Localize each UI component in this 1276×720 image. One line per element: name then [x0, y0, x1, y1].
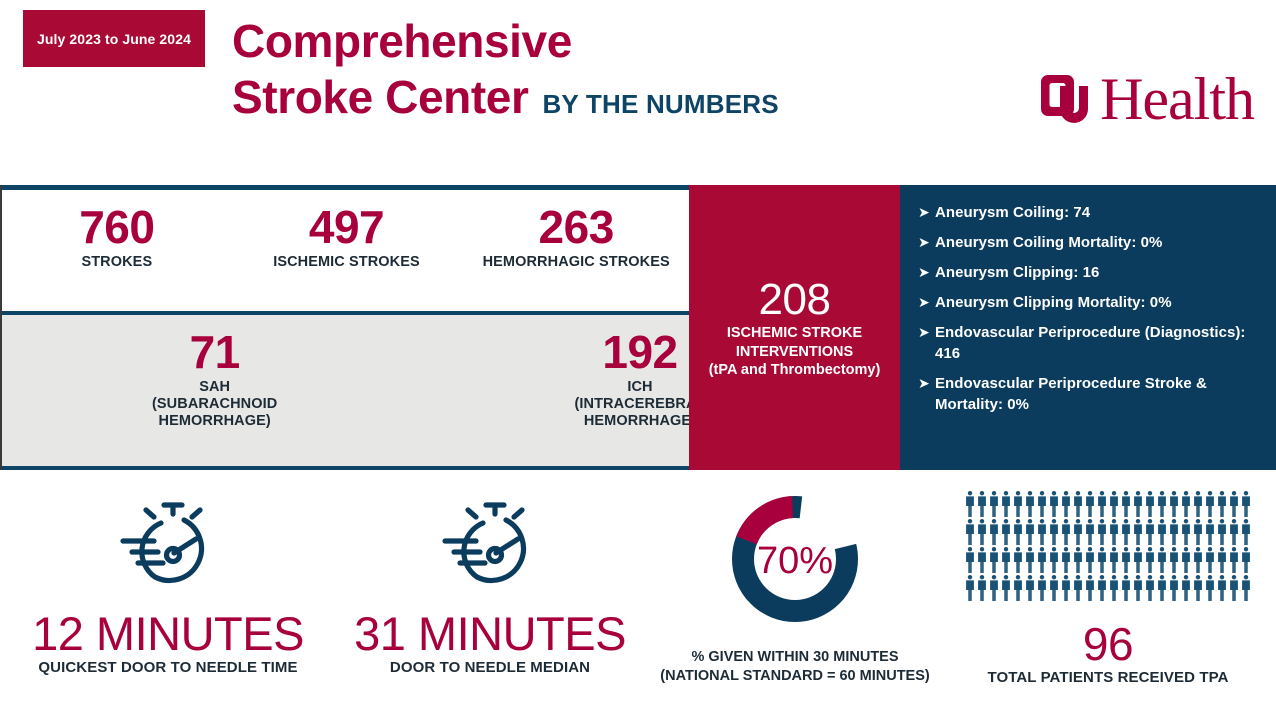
person-icon [1144, 518, 1156, 546]
list-item: ➤ Endovascular Periprocedure Stroke & Mo… [918, 373, 1264, 415]
stopwatch-icon [114, 492, 222, 598]
person-icon [1192, 518, 1204, 546]
stat-value: 497 [309, 204, 384, 250]
person-icon [1132, 490, 1144, 518]
person-icon [1084, 490, 1096, 518]
person-icon [1216, 546, 1228, 574]
person-icon [1216, 490, 1228, 518]
person-icon [1228, 546, 1240, 574]
list-item: ➤ Aneurysm Coiling Mortality: 0% [918, 232, 1264, 253]
person-icon [1144, 490, 1156, 518]
person-icon [1216, 518, 1228, 546]
person-icon [1132, 518, 1144, 546]
person-icon [1036, 490, 1048, 518]
person-icon [1156, 518, 1168, 546]
metric-value: 96 [1083, 620, 1133, 668]
page-title-line2: Stroke Center [232, 68, 528, 126]
person-icon [1012, 518, 1024, 546]
person-icon [1096, 574, 1108, 602]
person-icon [1000, 574, 1012, 602]
date-range-text: July 2023 to June 2024 [37, 31, 191, 47]
person-icon [1144, 546, 1156, 574]
intervention-label-line1: ISCHEMIC STROKE [727, 324, 862, 342]
stat-label: ICH (INTRACEREBRAL HEMORRHAGE) [574, 379, 705, 430]
person-icon [988, 490, 1000, 518]
person-icon [1060, 490, 1072, 518]
stat-sah: 71 SAH (SUBARACHNOID HEMORRHAGE) [2, 315, 427, 466]
person-icon [1144, 574, 1156, 602]
person-icon [1240, 490, 1252, 518]
person-icon [1228, 518, 1240, 546]
metric-percent-within-30-minutes: 70% % GIVEN WITHIN 30 MINUTES (NATIONAL … [645, 488, 945, 686]
performance-band: 12 MINUTES QUICKEST DOOR TO NEEDLE TIME [0, 470, 1276, 720]
page-title-line2-row: Stroke Center BY THE NUMBERS [232, 68, 779, 133]
page-header: July 2023 to June 2024 Comprehensive Str… [0, 0, 1276, 185]
person-icon [1048, 574, 1060, 602]
arrow-bullet-icon: ➤ [918, 322, 935, 342]
person-icon [1072, 490, 1084, 518]
person-icon [1024, 546, 1036, 574]
stat-label: ISCHEMIC STROKES [273, 254, 420, 271]
list-item-label: Aneurysm Clipping: 16 [935, 262, 1099, 283]
person-icon [964, 574, 976, 602]
donut-chart: 70% [724, 488, 866, 630]
person-icon [1168, 490, 1180, 518]
metric-caption: DOOR TO NEEDLE MEDIAN [390, 658, 590, 677]
page-subtitle: BY THE NUMBERS [542, 75, 778, 133]
stat-label: HEMORRHAGIC STROKES [483, 254, 670, 271]
person-icon [1060, 518, 1072, 546]
person-icon [1084, 546, 1096, 574]
list-item-label: Aneurysm Coiling: 74 [935, 202, 1090, 223]
person-icon [1156, 490, 1168, 518]
person-icon [1012, 574, 1024, 602]
person-icon [1072, 546, 1084, 574]
person-icon [976, 574, 988, 602]
intervention-label-line2: INTERVENTIONS [736, 343, 853, 361]
ou-health-wordmark: Health [1100, 69, 1254, 129]
person-icon [964, 490, 976, 518]
people-pictogram [964, 490, 1252, 602]
donut-caption-line1: % GIVEN WITHIN 30 MINUTES [691, 648, 898, 667]
person-icon [1072, 518, 1084, 546]
stat-value: 760 [79, 204, 154, 250]
person-icon [1180, 518, 1192, 546]
person-icon [1180, 490, 1192, 518]
person-icon [1156, 546, 1168, 574]
stat-label: SAH (SUBARACHNOID HEMORRHAGE) [152, 379, 277, 430]
title-block: Comprehensive Stroke Center BY THE NUMBE… [232, 14, 779, 133]
intervention-sublabel: (tPA and Thrombectomy) [709, 361, 881, 379]
stats-panel: 760 STROKES 497 ISCHEMIC STROKES 263 HEM… [0, 185, 689, 470]
person-icon [1108, 518, 1120, 546]
person-icon [1204, 574, 1216, 602]
person-icon [1168, 574, 1180, 602]
person-icon [1096, 546, 1108, 574]
metric-caption: TOTAL PATIENTS RECEIVED TPA [987, 668, 1228, 687]
person-icon [1096, 490, 1108, 518]
person-icon [1072, 574, 1084, 602]
person-icon [1048, 546, 1060, 574]
stats-row-top: 760 STROKES 497 ISCHEMIC STROKES 263 HEM… [2, 190, 691, 311]
procedures-list-panel: ➤ Aneurysm Coiling: 74 ➤ Aneurysm Coilin… [900, 185, 1276, 470]
arrow-bullet-icon: ➤ [918, 202, 935, 222]
person-icon [1132, 546, 1144, 574]
arrow-bullet-icon: ➤ [918, 262, 935, 282]
person-icon [1204, 490, 1216, 518]
intervention-value: 208 [759, 277, 831, 323]
person-icon [1048, 490, 1060, 518]
page-title-line1: Comprehensive [232, 14, 779, 68]
person-icon [1024, 518, 1036, 546]
person-icon [1192, 574, 1204, 602]
metric-value: 31 MINUTES [354, 610, 626, 658]
donut-caption-line2: (NATIONAL STANDARD = 60 MINUTES) [660, 667, 929, 686]
stat-value: 263 [539, 204, 614, 250]
person-icon [1108, 574, 1120, 602]
list-item: ➤ Endovascular Periprocedure (Diagnostic… [918, 322, 1264, 364]
person-icon [1000, 490, 1012, 518]
person-icon [1000, 518, 1012, 546]
stat-label: STROKES [81, 254, 152, 271]
person-icon [1060, 546, 1072, 574]
person-icon [988, 546, 1000, 574]
person-icon [1132, 574, 1144, 602]
person-icon [1204, 518, 1216, 546]
person-icon [976, 490, 988, 518]
list-item-label: Aneurysm Coiling Mortality: 0% [935, 232, 1162, 253]
infographic-page: July 2023 to June 2024 Comprehensive Str… [0, 0, 1276, 720]
stat-hemorrhagic-strokes: 263 HEMORRHAGIC STROKES [461, 190, 691, 311]
ou-health-logo: Health [1036, 68, 1254, 130]
person-icon [1180, 546, 1192, 574]
list-item: ➤ Aneurysm Clipping: 16 [918, 262, 1264, 283]
metric-caption: QUICKEST DOOR TO NEEDLE TIME [38, 658, 297, 677]
person-icon [1240, 574, 1252, 602]
person-icon [1216, 574, 1228, 602]
person-icon [964, 546, 976, 574]
person-icon [1240, 546, 1252, 574]
person-icon [1204, 546, 1216, 574]
metric-door-to-needle-median: 31 MINUTES DOOR TO NEEDLE MEDIAN [345, 492, 635, 677]
ischemic-intervention-panel: 208 ISCHEMIC STROKE INTERVENTIONS (tPA a… [689, 185, 900, 470]
list-item: ➤ Aneurysm Coiling: 74 [918, 202, 1264, 223]
list-item-label: Aneurysm Clipping Mortality: 0% [935, 292, 1172, 313]
person-icon [1228, 574, 1240, 602]
list-item-label: Endovascular Periprocedure Stroke & Mort… [935, 373, 1264, 415]
person-icon [1240, 518, 1252, 546]
list-item-label: Endovascular Periprocedure (Diagnostics)… [935, 322, 1264, 364]
person-icon [1192, 546, 1204, 574]
person-icon [976, 518, 988, 546]
person-icon [1108, 546, 1120, 574]
donut-center-label: 70% [757, 540, 833, 582]
person-icon [1228, 490, 1240, 518]
person-icon [1012, 490, 1024, 518]
person-icon [1036, 518, 1048, 546]
person-icon [1048, 518, 1060, 546]
date-range-badge: July 2023 to June 2024 [23, 10, 205, 67]
person-icon [1156, 574, 1168, 602]
metric-quickest-door-to-needle: 12 MINUTES QUICKEST DOOR TO NEEDLE TIME [18, 492, 318, 677]
person-icon [1012, 546, 1024, 574]
person-icon [1024, 490, 1036, 518]
person-icon [1036, 574, 1048, 602]
stat-value: 71 [190, 329, 240, 375]
metric-value: 12 MINUTES [32, 610, 304, 658]
person-icon [1192, 490, 1204, 518]
stat-strokes: 760 STROKES [2, 190, 232, 311]
person-icon [1120, 490, 1132, 518]
person-icon [1060, 574, 1072, 602]
person-icon [988, 518, 1000, 546]
statistics-band: 760 STROKES 497 ISCHEMIC STROKES 263 HEM… [0, 185, 1276, 470]
stat-value: 192 [602, 329, 677, 375]
arrow-bullet-icon: ➤ [918, 292, 935, 312]
person-icon [1084, 574, 1096, 602]
arrow-bullet-icon: ➤ [918, 373, 935, 393]
stat-ischemic-strokes: 497 ISCHEMIC STROKES [232, 190, 462, 311]
metric-total-patients-received-tpa: 96 TOTAL PATIENTS RECEIVED TPA [958, 490, 1258, 687]
person-icon [1096, 518, 1108, 546]
arrow-bullet-icon: ➤ [918, 232, 935, 252]
person-icon [1120, 574, 1132, 602]
person-icon [1000, 546, 1012, 574]
person-icon [1036, 546, 1048, 574]
stopwatch-icon [436, 492, 544, 598]
person-icon [1168, 546, 1180, 574]
person-icon [976, 546, 988, 574]
list-item: ➤ Aneurysm Clipping Mortality: 0% [918, 292, 1264, 313]
person-icon [1180, 574, 1192, 602]
person-icon [1084, 518, 1096, 546]
person-icon [1120, 518, 1132, 546]
person-icon [964, 518, 976, 546]
person-icon [1120, 546, 1132, 574]
ou-interlocking-logo-icon [1036, 68, 1098, 130]
person-icon [1108, 490, 1120, 518]
person-icon [1168, 518, 1180, 546]
person-icon [1024, 574, 1036, 602]
person-icon [988, 574, 1000, 602]
